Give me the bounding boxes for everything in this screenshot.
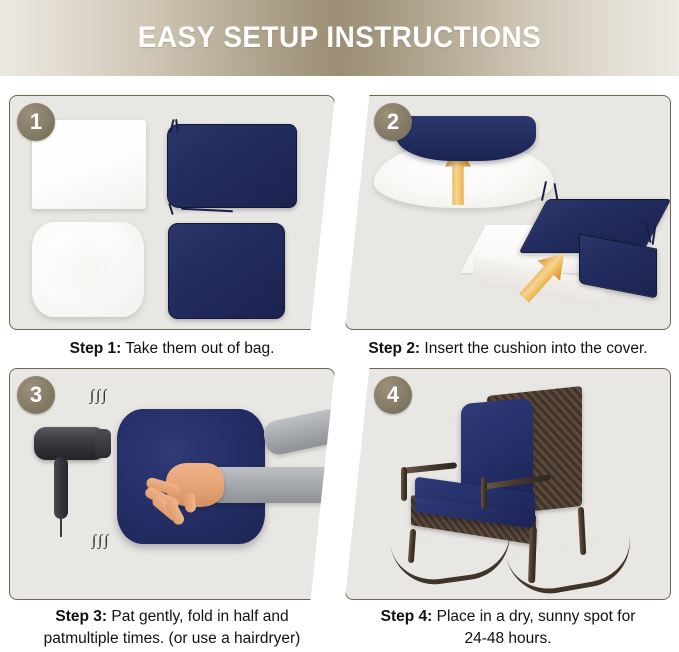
navy-cover-with-ties <box>167 119 295 211</box>
step-4-text-line2: 24-48 hours. <box>345 628 671 650</box>
step-3-caption: Step 3: Pat gently, fold in half and pat… <box>4 606 340 650</box>
step-4-badge: 4 <box>374 376 412 414</box>
white-pillow-insert <box>32 222 144 317</box>
step-1-label: Step 1: <box>70 340 122 357</box>
step-4-label: Step 4: <box>381 608 433 625</box>
air-squiggles-bottom: ∫∫∫ <box>92 536 110 547</box>
chair-arm-left-support <box>401 467 407 501</box>
step-2-label: Step 2: <box>368 340 420 357</box>
step-3-badge: 3 <box>17 376 55 414</box>
navy-cover-over-foam-slab <box>471 181 661 316</box>
step-2-text: Insert the cushion into the cover. <box>420 340 647 357</box>
step-3-text-line2: patmultiple times. (or use a hairdryer) <box>4 628 340 650</box>
step-1-caption: Step 1: Take them out of bag. <box>9 338 335 360</box>
step-1-panel <box>9 95 335 330</box>
step-2-caption: Step 2: Insert the cushion into the cove… <box>345 338 671 360</box>
step-3-label: Step 3: <box>55 608 107 625</box>
air-squiggles-top: ∫∫∫ <box>90 391 108 402</box>
rocker-back <box>506 534 637 600</box>
chair-arm-left <box>403 462 457 474</box>
step-2-badge: 2 <box>374 103 412 141</box>
step-1-text: Take them out of bag. <box>121 340 274 357</box>
chair-arm-right-support <box>481 477 487 509</box>
page-title: EASY SETUP INSTRUCTIONS <box>24 0 655 76</box>
step-3-panel: ∫∫∫ ∫∫∫ <box>9 368 335 600</box>
header-banner: EASY SETUP INSTRUCTIONS <box>0 0 679 76</box>
step-3-text-line1: Pat gently, fold in half and <box>111 608 288 625</box>
step-4-caption: Step 4: Place in a dry, sunny spot for 2… <box>345 606 671 650</box>
wicker-rocking-chair <box>401 387 631 587</box>
step-4-text-line1: Place in a dry, sunny spot for <box>437 608 636 625</box>
hand-patting <box>138 457 228 533</box>
navy-cushion-cover <box>168 223 283 317</box>
hair-dryer-icon <box>32 427 122 539</box>
step-1-badge: 1 <box>17 103 55 141</box>
